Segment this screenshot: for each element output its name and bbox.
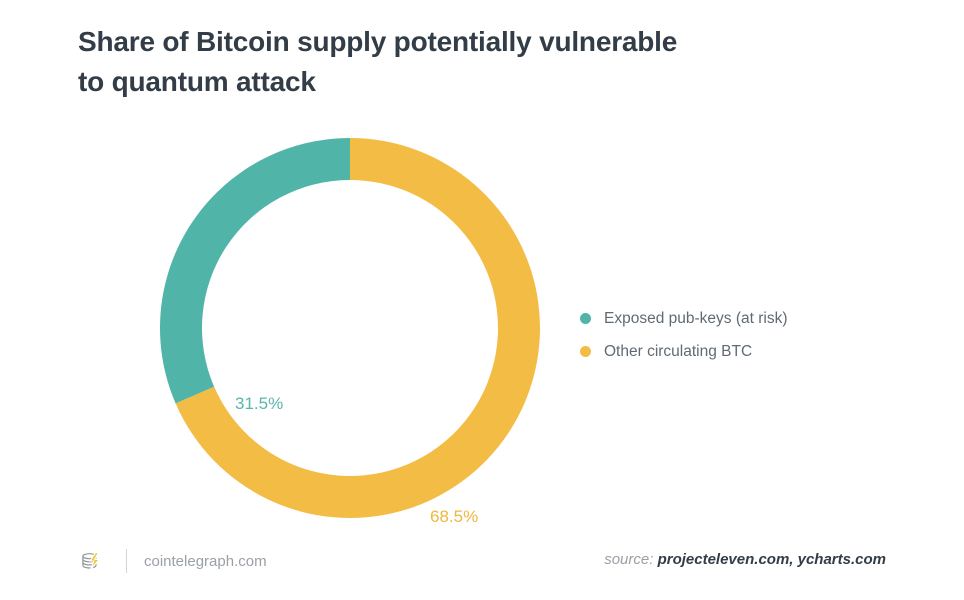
legend-color-swatch-teal-icon [580, 313, 591, 324]
brand-domain-label: cointelegraph.com [144, 553, 267, 570]
legend-item-exposed-pub-keys[interactable]: Exposed pub-keys (at risk) [580, 302, 788, 335]
legend-label-exposed-pub-keys: Exposed pub-keys (at risk) [604, 310, 788, 328]
brand-block: cointelegraph.com [78, 544, 267, 578]
chart-title: Share of Bitcoin supply potentially vuln… [78, 22, 798, 102]
legend-item-other-circulating-btc[interactable]: Other circulating BTC [580, 335, 788, 368]
footer: cointelegraph.com source: projecteleven.… [0, 540, 964, 600]
legend-label-other-circulating-btc: Other circulating BTC [604, 343, 752, 361]
source-prefix-label: source: [604, 551, 653, 568]
donut-svg [160, 138, 540, 518]
donut-slice-exposed-pub-keys[interactable] [160, 138, 350, 403]
source-value-label: projecteleven.com, ycharts.com [658, 551, 886, 568]
slice-value-label-exposed: 31.5% [235, 394, 283, 414]
donut-chart: 31.5% 68.5% [160, 138, 540, 518]
cointelegraph-logo-icon [78, 547, 106, 575]
slice-value-label-other: 68.5% [430, 507, 478, 527]
legend-color-swatch-amber-icon [580, 346, 591, 357]
donut-slices [160, 138, 540, 518]
brand-divider [126, 549, 127, 573]
chart-legend: Exposed pub-keys (at risk) Other circula… [580, 302, 788, 368]
chart-canvas: Share of Bitcoin supply potentially vuln… [0, 0, 964, 600]
source-attribution: source: projecteleven.com, ycharts.com [604, 549, 886, 571]
